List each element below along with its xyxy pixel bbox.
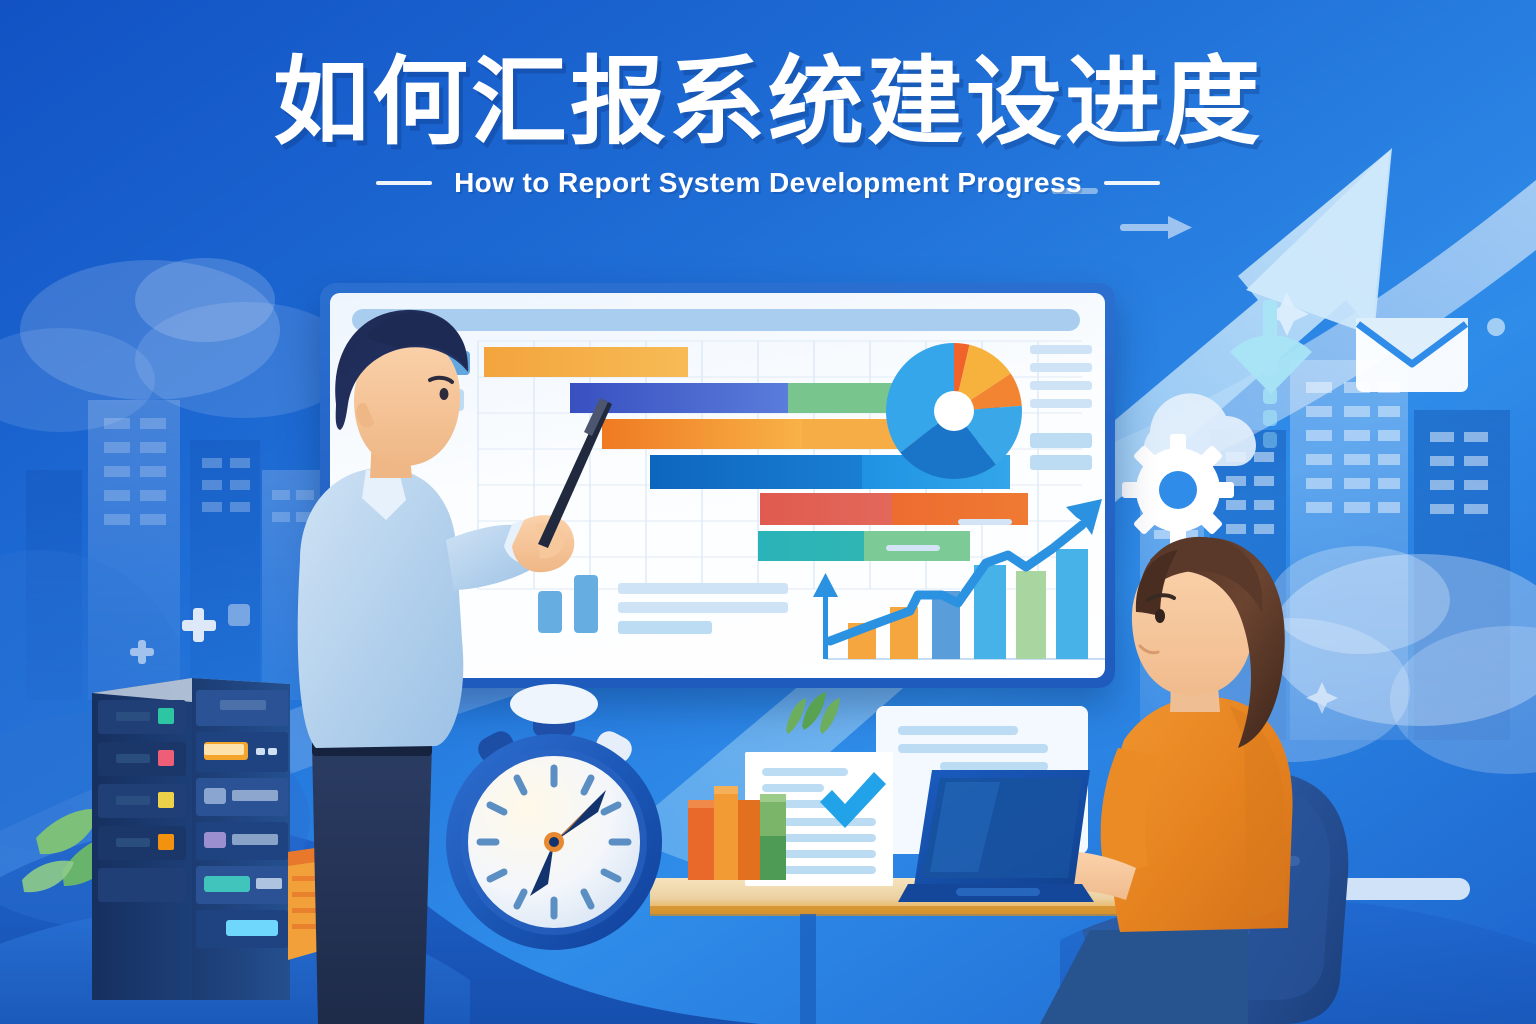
body-line-3 xyxy=(618,621,712,634)
legend-line-4 xyxy=(1030,399,1092,408)
presentation-whiteboard[interactable] xyxy=(320,283,1115,688)
mini-bar-2 xyxy=(574,575,598,633)
page-title: 如何汇报系统建设进度 xyxy=(0,52,1536,153)
legend-block-1 xyxy=(1030,433,1092,448)
subtitle-row: How to Report System Development Progres… xyxy=(0,167,1536,199)
legend-block-2 xyxy=(1030,455,1092,470)
combo-bar-line-chart xyxy=(790,491,1105,678)
left-dash-decoration xyxy=(376,181,432,185)
pie-chart xyxy=(876,335,1032,487)
legend-line-2 xyxy=(1030,363,1092,372)
body-line-1 xyxy=(618,583,788,594)
poster-canvas: 如何汇报系统建设进度 How to Report System Developm… xyxy=(0,0,1536,1024)
y-axis-arrow xyxy=(813,573,838,659)
gantt-bar-2 xyxy=(570,383,788,413)
gear-icon xyxy=(1122,434,1234,546)
legend-line-3 xyxy=(1030,381,1092,390)
gantt-bar-1 xyxy=(484,347,688,377)
gantt-bar-4 xyxy=(650,455,862,489)
body-line-2 xyxy=(618,602,788,613)
page-subtitle: How to Report System Development Progres… xyxy=(454,167,1082,199)
whiteboard-header-bar xyxy=(352,309,1080,331)
gantt-bar-3 xyxy=(602,419,802,449)
envelope-icon xyxy=(1356,318,1468,392)
bar-5 xyxy=(1016,571,1046,659)
bar-6 xyxy=(1056,549,1088,659)
mini-bar-1 xyxy=(538,591,562,633)
legend-line-1 xyxy=(1030,345,1092,354)
poster-header: 如何汇报系统建设进度 How to Report System Developm… xyxy=(0,52,1536,199)
whiteboard-screen xyxy=(330,293,1105,678)
right-dash-decoration xyxy=(1104,181,1160,185)
